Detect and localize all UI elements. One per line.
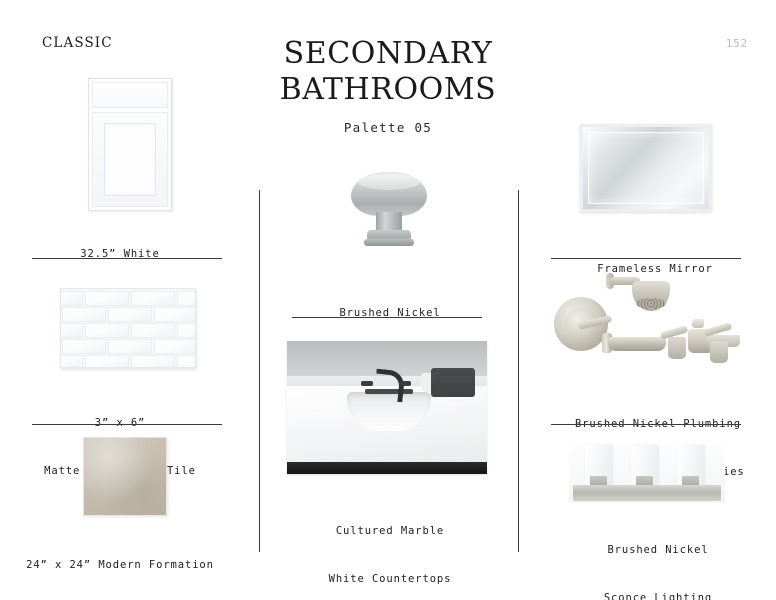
swatch-vanity-photo	[287, 341, 487, 474]
caption-cultured-marble-countertops: Cultured Marble White Countertops	[280, 491, 500, 600]
lav-faucet-base-right	[710, 341, 728, 363]
caption-line-1: Brushed Nickel	[280, 305, 500, 321]
page-title-line-1: SECONDARY	[0, 36, 776, 72]
swatch-plumbing-fixtures	[540, 271, 766, 375]
caption-line-1: 3” x 6”	[10, 415, 230, 431]
swatch-floor-tile	[83, 437, 167, 516]
item-divider-left-2	[32, 424, 222, 425]
column-divider-right	[518, 190, 519, 552]
sconce-backplate	[573, 485, 721, 501]
cabinet-drawer-front	[92, 82, 168, 108]
design-palette-board: CLASSIC 152 SECONDARY BATHROOMS Palette …	[0, 0, 776, 600]
cabinet-recessed-panel	[104, 123, 156, 196]
vanity-cabinet-edge	[287, 462, 487, 474]
caption-line-1: 24” x 24” Modern Formation	[10, 557, 230, 573]
item-divider-right-2	[551, 424, 741, 425]
mirror-bevel-edge	[588, 132, 704, 204]
swatch-subway-tile	[60, 288, 196, 368]
cabinet-door-front	[92, 112, 168, 207]
swatch-cabinet-door	[88, 78, 172, 211]
knob-foot	[364, 239, 414, 246]
item-divider-center-1	[292, 317, 482, 318]
knob-cap	[351, 172, 427, 216]
caption-brushed-nickel-sconce-lighting: Brushed Nickel Sconce Lighting	[545, 510, 771, 600]
caption-line-2: Sconce Lighting	[545, 590, 771, 600]
shower-head	[632, 281, 670, 311]
lav-faucet-base-left	[668, 337, 686, 359]
shower-head-spray-face	[636, 298, 666, 309]
column-divider-left	[259, 190, 260, 552]
lav-faucet-cap	[692, 319, 704, 328]
vanity-faucet-handle-right	[399, 381, 411, 386]
item-divider-left-1	[32, 258, 222, 259]
caption-headland-fog-floor-tiles: 24” x 24” Modern Formation Headland Fog …	[10, 525, 230, 600]
caption-line-1: 32.5” White	[10, 246, 230, 262]
item-divider-right-1	[551, 258, 741, 259]
caption-line-1: Cultured Marble	[280, 523, 500, 539]
tub-spout	[608, 337, 666, 351]
swatch-frameless-mirror	[580, 124, 712, 212]
vanity-accessory-group	[431, 368, 475, 397]
knob-cap-highlight	[358, 174, 420, 190]
swatch-cabinet-knob	[351, 172, 427, 248]
caption-line-2: White Countertops	[280, 571, 500, 587]
vanity-faucet-handle-left	[361, 381, 373, 386]
caption-line-1: Brushed Nickel	[545, 542, 771, 558]
swatch-sconce-light	[569, 443, 725, 503]
